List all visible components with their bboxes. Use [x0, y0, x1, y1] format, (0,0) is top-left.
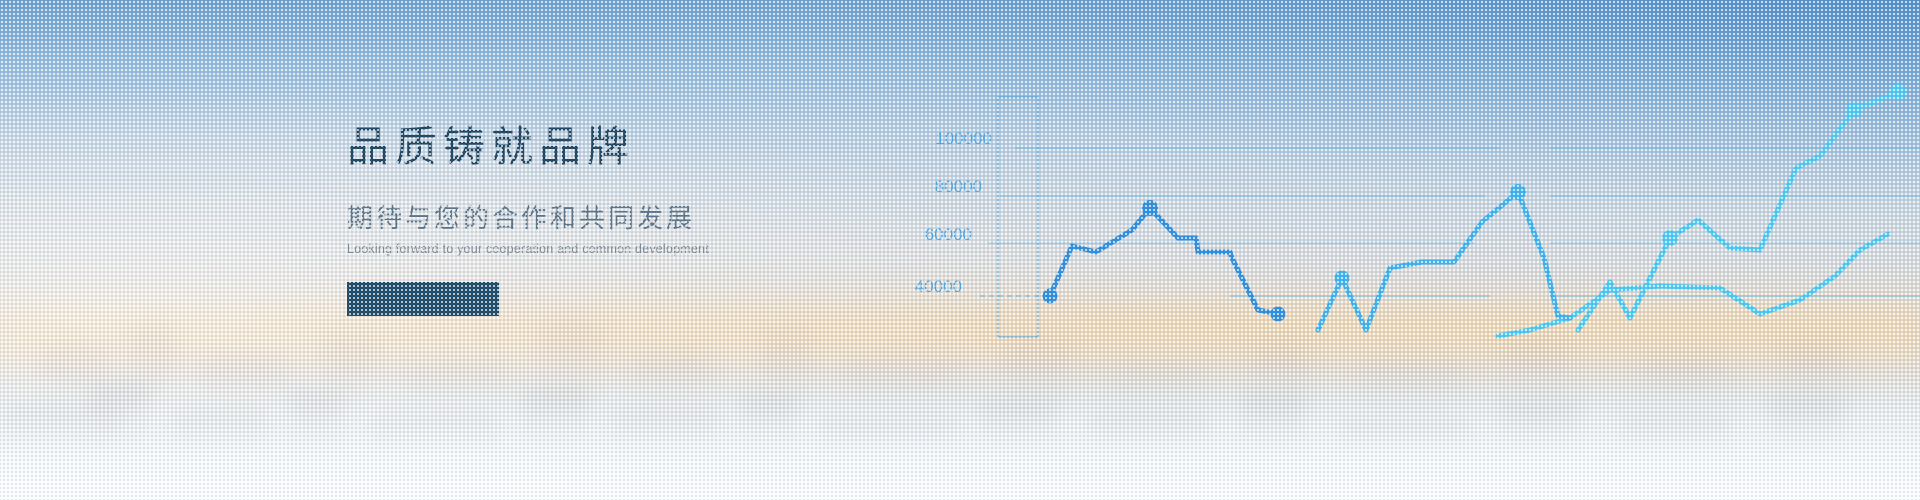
data-point-marker [1271, 307, 1286, 322]
data-point-marker [1510, 184, 1526, 200]
hero-banner: 100000 80000 60000 40000 [0, 0, 1920, 500]
hero-copy: 品质铸就品牌 期待与您的合作和共同发展 Looking forward to y… [347, 122, 987, 316]
data-point-marker [1043, 289, 1058, 304]
chart-gridlines [980, 148, 1920, 296]
chart-line-series-3 [1578, 92, 1898, 330]
data-point-marker [1846, 102, 1862, 118]
page-title: 品质铸就品牌 [347, 122, 987, 172]
chart-line-series-4 [1498, 234, 1888, 336]
data-point-marker [1335, 271, 1350, 286]
data-point-marker [1890, 84, 1907, 101]
subtitle-chinese: 期待与您的合作和共同发展 [347, 198, 987, 235]
data-point-marker [1662, 230, 1678, 246]
chart-axis-frame [998, 97, 1038, 337]
subtitle-english: Looking forward to your cooperation and … [347, 242, 987, 256]
data-point-marker [1142, 200, 1158, 216]
cta-button[interactable] [347, 282, 499, 316]
line-chart: 100000 80000 60000 40000 [930, 0, 1920, 500]
chart-line-series-2 [1318, 192, 1570, 330]
chart-data-point-markers [1043, 84, 1907, 322]
chart-line-series-1 [1050, 208, 1278, 314]
